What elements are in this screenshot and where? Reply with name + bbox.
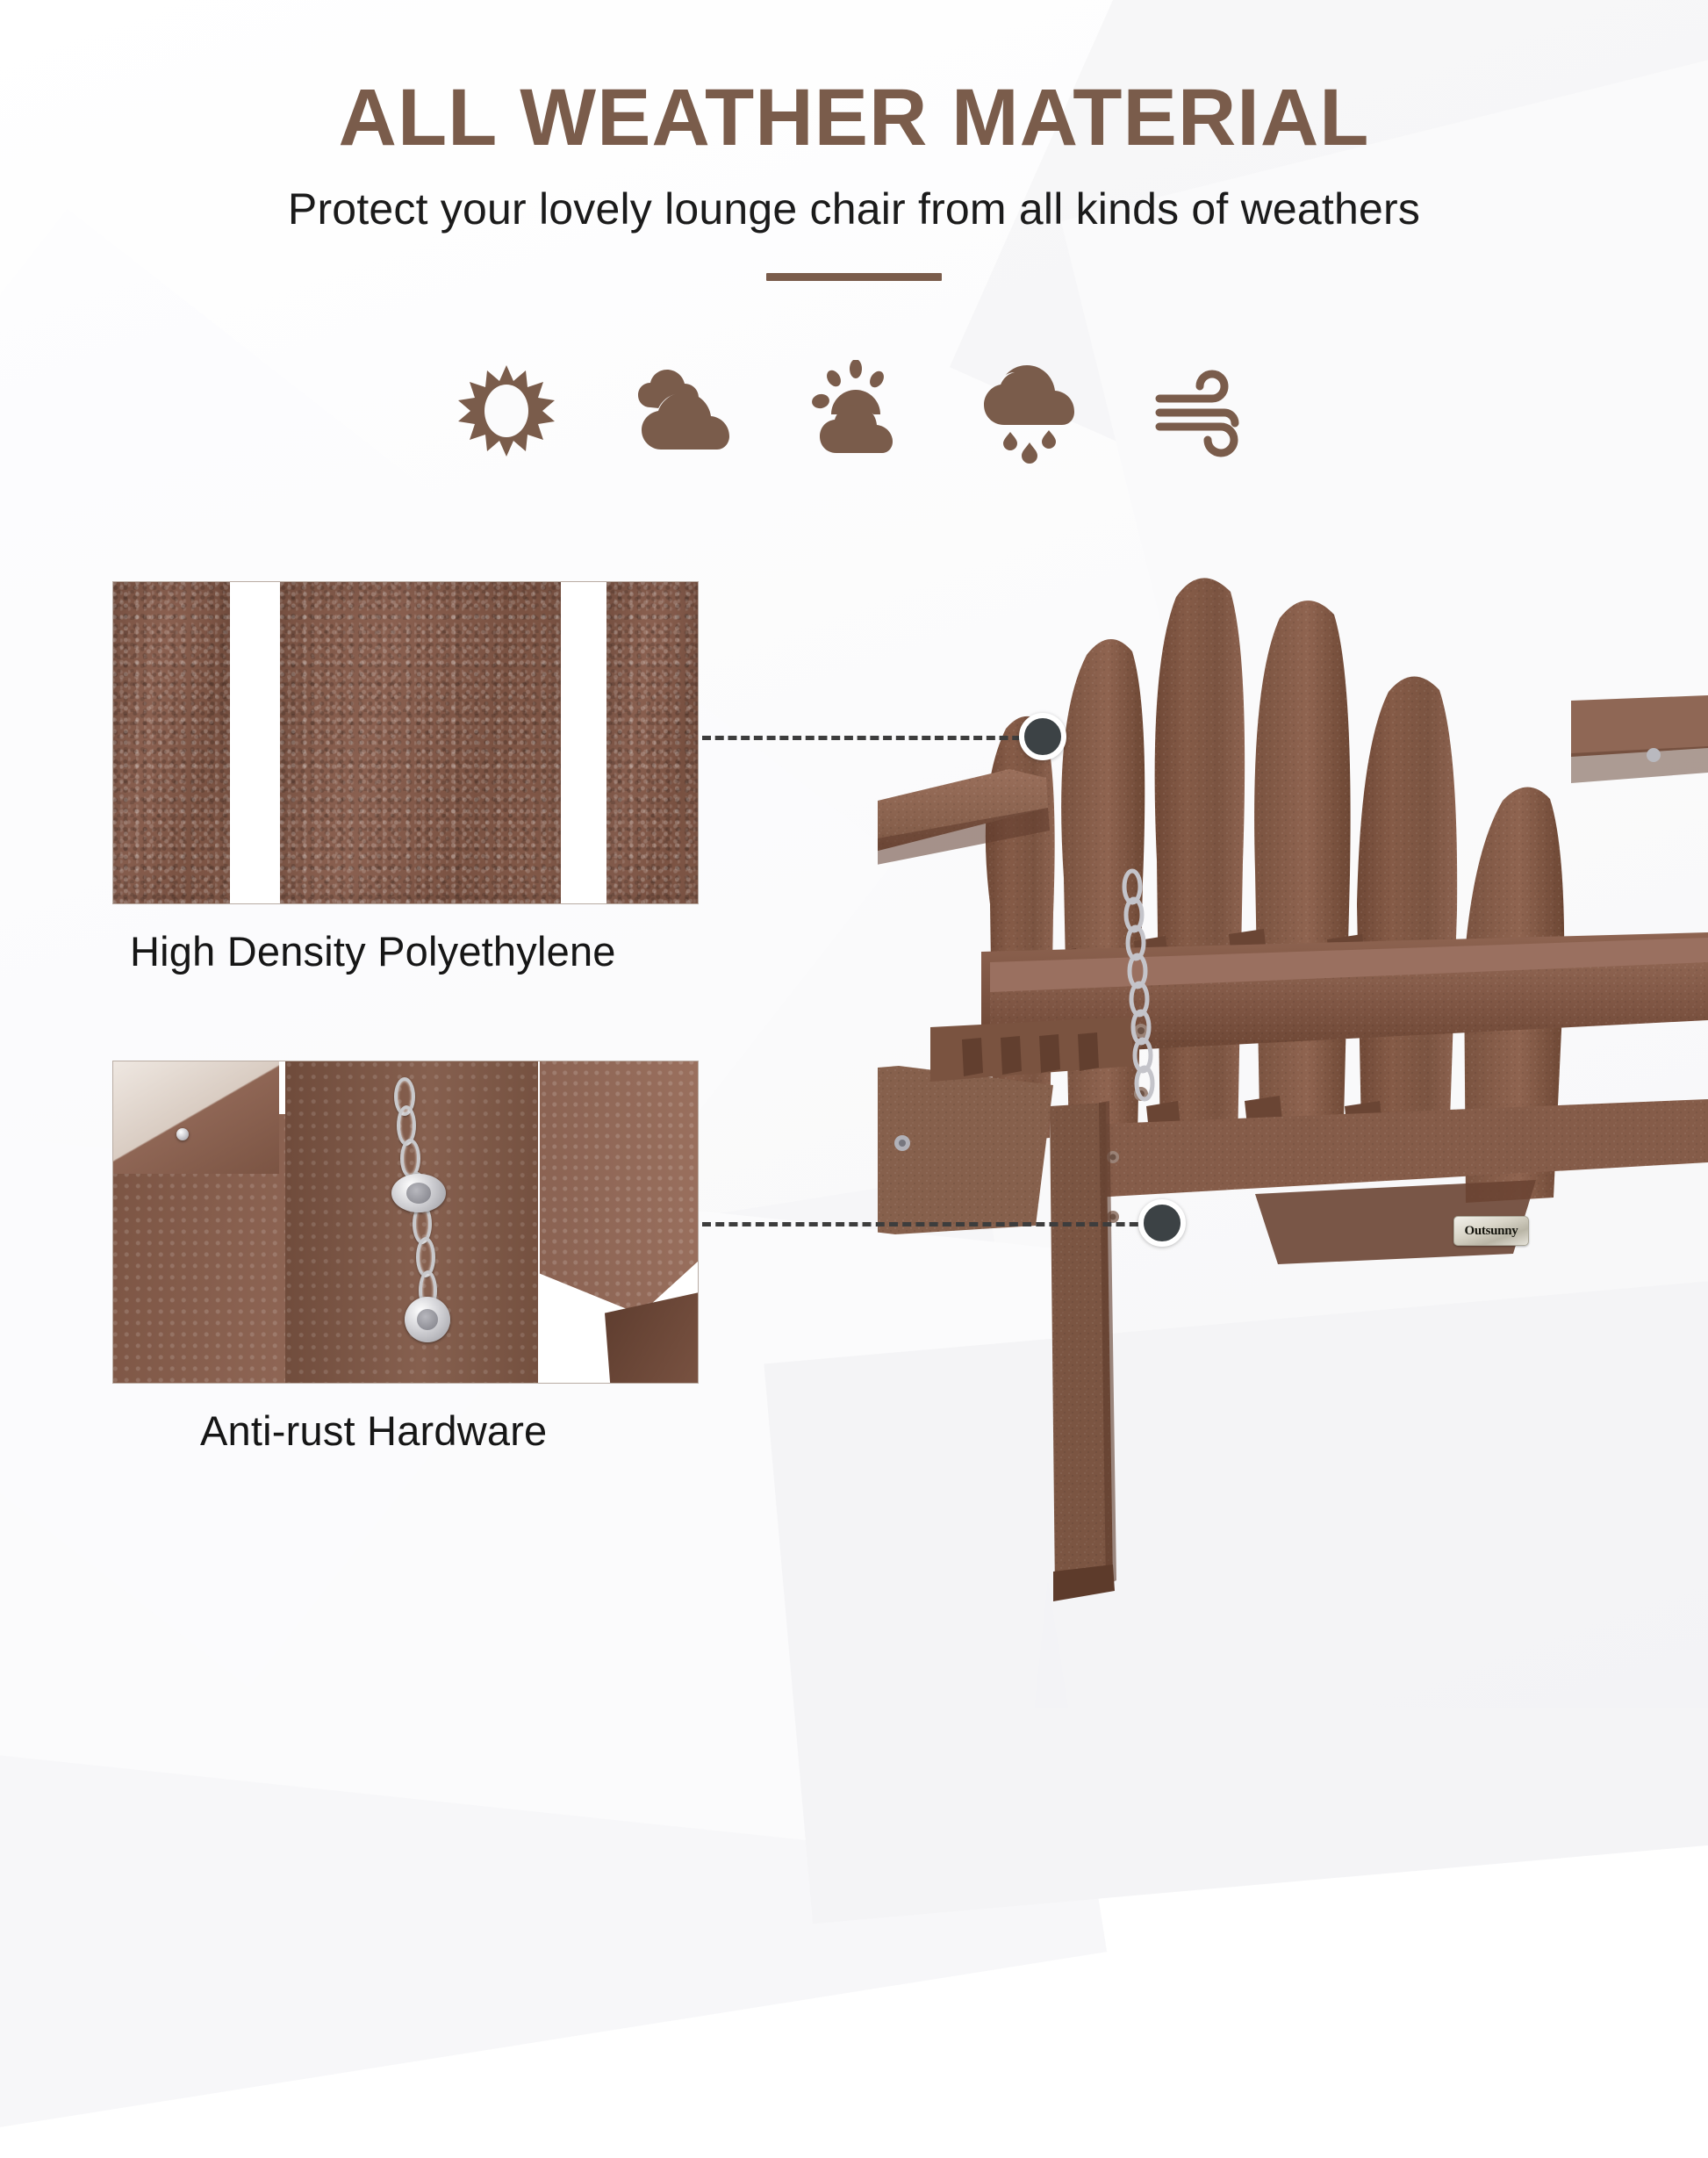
brand-name: Outsunny: [1465, 1224, 1518, 1239]
bolt-washer-lower: [405, 1297, 450, 1342]
cloudy-icon: [628, 360, 733, 465]
bolt-washer-upper: [391, 1174, 446, 1212]
callout-marker-hdpe: [1019, 713, 1066, 760]
partly-sunny-icon: [801, 360, 907, 465]
hdpe-caption: High Density Polyethylene: [112, 927, 699, 975]
header-block: ALL WEATHER MATERIAL Protect your lovely…: [0, 0, 1708, 281]
chair-armrest-right: [1571, 695, 1708, 783]
callout-leader-line-hdpe: [702, 736, 1034, 740]
chair-front-leg: [1050, 1101, 1116, 1601]
hdpe-texture-photo: [112, 581, 699, 904]
rain-cloud-icon: [975, 360, 1080, 465]
callout-leader-line-hardware: [702, 1222, 1152, 1226]
wind-icon: [1149, 360, 1254, 465]
sun-icon: [454, 360, 559, 465]
adirondack-chair-photo: [878, 492, 1708, 1651]
feature-card-hardware: Anti-rust Hardware: [112, 1061, 699, 1455]
hardware-caption: Anti-rust Hardware: [112, 1406, 699, 1455]
hdpe-slat: [112, 581, 230, 904]
title-divider: [766, 273, 942, 281]
weather-icon-row: [0, 360, 1708, 465]
hardware-plank-right: [540, 1061, 699, 1314]
chair-side-stretcher: [878, 1066, 1053, 1303]
hdpe-slat: [280, 581, 561, 904]
page-subtitle: Protect your lovely lounge chair from al…: [0, 183, 1708, 234]
hdpe-slat: [606, 581, 699, 904]
callout-marker-hardware: [1138, 1199, 1186, 1247]
hardware-plank-corner: [112, 1061, 279, 1174]
screw-head-corner: [176, 1128, 189, 1140]
hardware-photo: [112, 1061, 699, 1384]
page-title: ALL WEATHER MATERIAL: [0, 76, 1708, 161]
feature-card-hdpe: High Density Polyethylene: [112, 581, 699, 975]
brand-plate: Outsunny: [1453, 1216, 1529, 1246]
